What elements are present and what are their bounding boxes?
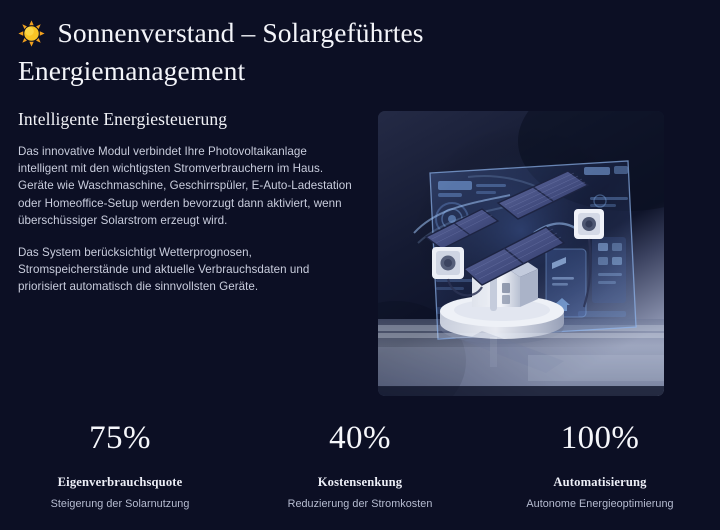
stat-label: Automatisierung [480, 473, 720, 491]
content-column: Intelligente Energiesteuerung Das innova… [18, 108, 358, 296]
page-title: Sonnenverstand – Solargeführtes Energiem… [18, 14, 488, 90]
stat-sublabel: Reduzierung der Stromkosten [240, 496, 480, 512]
body-paragraph: Das innovative Modul verbindet Ihre Phot… [18, 143, 358, 229]
stat-item: 40% Kostensenkung Reduzierung der Stromk… [240, 418, 480, 512]
stat-sublabel: Steigerung der Solarnutzung [0, 496, 240, 512]
section-subheading: Intelligente Energiesteuerung [18, 108, 358, 130]
slide-root: Sonnenverstand – Solargeführtes Energiem… [0, 0, 720, 530]
stat-value: 40% [240, 418, 480, 458]
sun-icon [18, 20, 45, 47]
page-title-text: Sonnenverstand – Solargeführtes Energiem… [18, 17, 424, 86]
stat-label: Kostensenkung [240, 473, 480, 491]
stats-row: 75% Eigenverbrauchsquote Steigerung der … [0, 418, 720, 512]
stat-item: 75% Eigenverbrauchsquote Steigerung der … [0, 418, 240, 512]
stat-label: Eigenverbrauchsquote [0, 473, 240, 491]
body-paragraph: Das System berücksichtigt Wetterprognose… [18, 244, 358, 296]
solar-smart-home-illustration [378, 111, 664, 396]
stat-value: 100% [480, 418, 720, 458]
stat-item: 100% Automatisierung Autonome Energieopt… [480, 418, 720, 512]
stat-sublabel: Autonome Energieoptimierung [480, 496, 720, 512]
stat-value: 75% [0, 418, 240, 458]
